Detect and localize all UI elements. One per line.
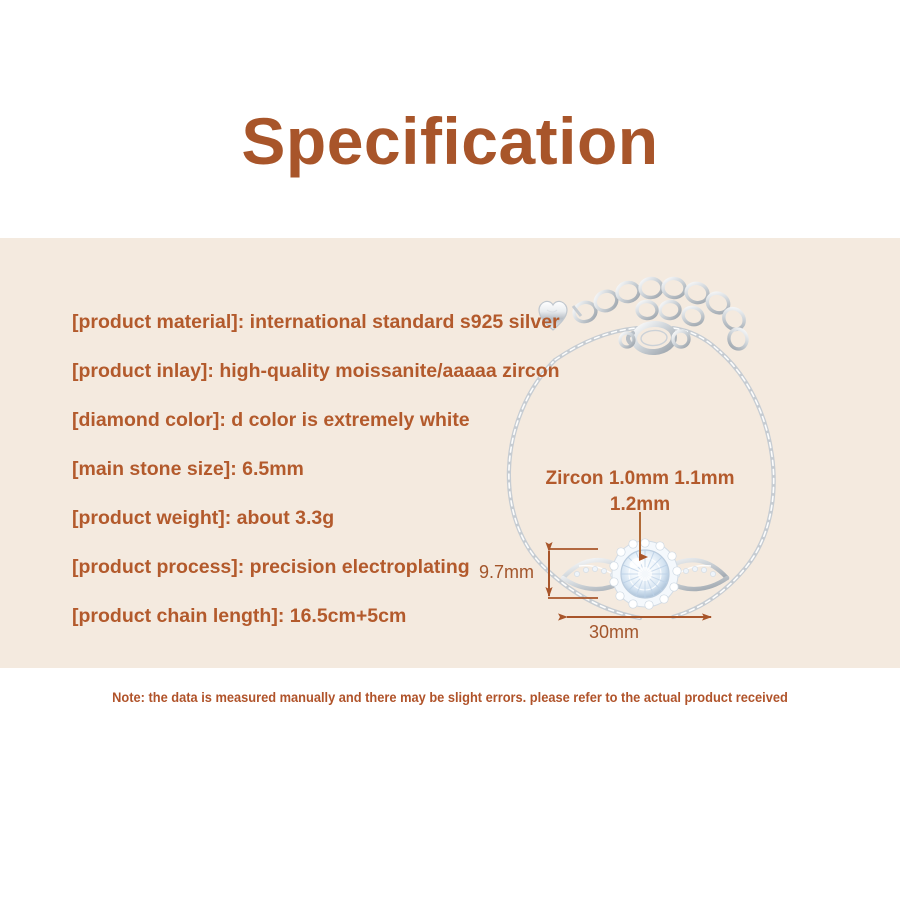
specification-page: Specification xyxy=(0,0,900,900)
footer-note: Note: the data is measured manually and … xyxy=(23,690,878,705)
spec-item-diamond-color: [diamond color]: d color is extremely wh… xyxy=(72,396,592,445)
zircon-size-label: Zircon 1.0mm 1.1mm 1.2mm xyxy=(530,466,750,518)
height-dimension-label: 9.7mm xyxy=(479,562,534,583)
center-halo-stone xyxy=(610,539,681,609)
zircon-size-line-2: 1.2mm xyxy=(530,492,750,518)
zircon-size-line-1: Zircon 1.0mm 1.1mm xyxy=(530,466,750,492)
spec-item-product-inlay: [product inlay]: high-quality moissanite… xyxy=(72,347,592,396)
spec-item-main-stone-size: [main stone size]: 6.5mm xyxy=(72,445,592,494)
width-dimension-label: 30mm xyxy=(589,622,639,643)
page-title: Specification xyxy=(0,108,900,174)
spec-item-product-material: [product material]: international standa… xyxy=(72,298,592,347)
spec-item-product-chain-length: [product chain length]: 16.5cm+5cm xyxy=(72,592,592,641)
specification-list: [product material]: international standa… xyxy=(72,298,592,641)
spec-item-product-weight: [product weight]: about 3.3g xyxy=(72,494,592,543)
